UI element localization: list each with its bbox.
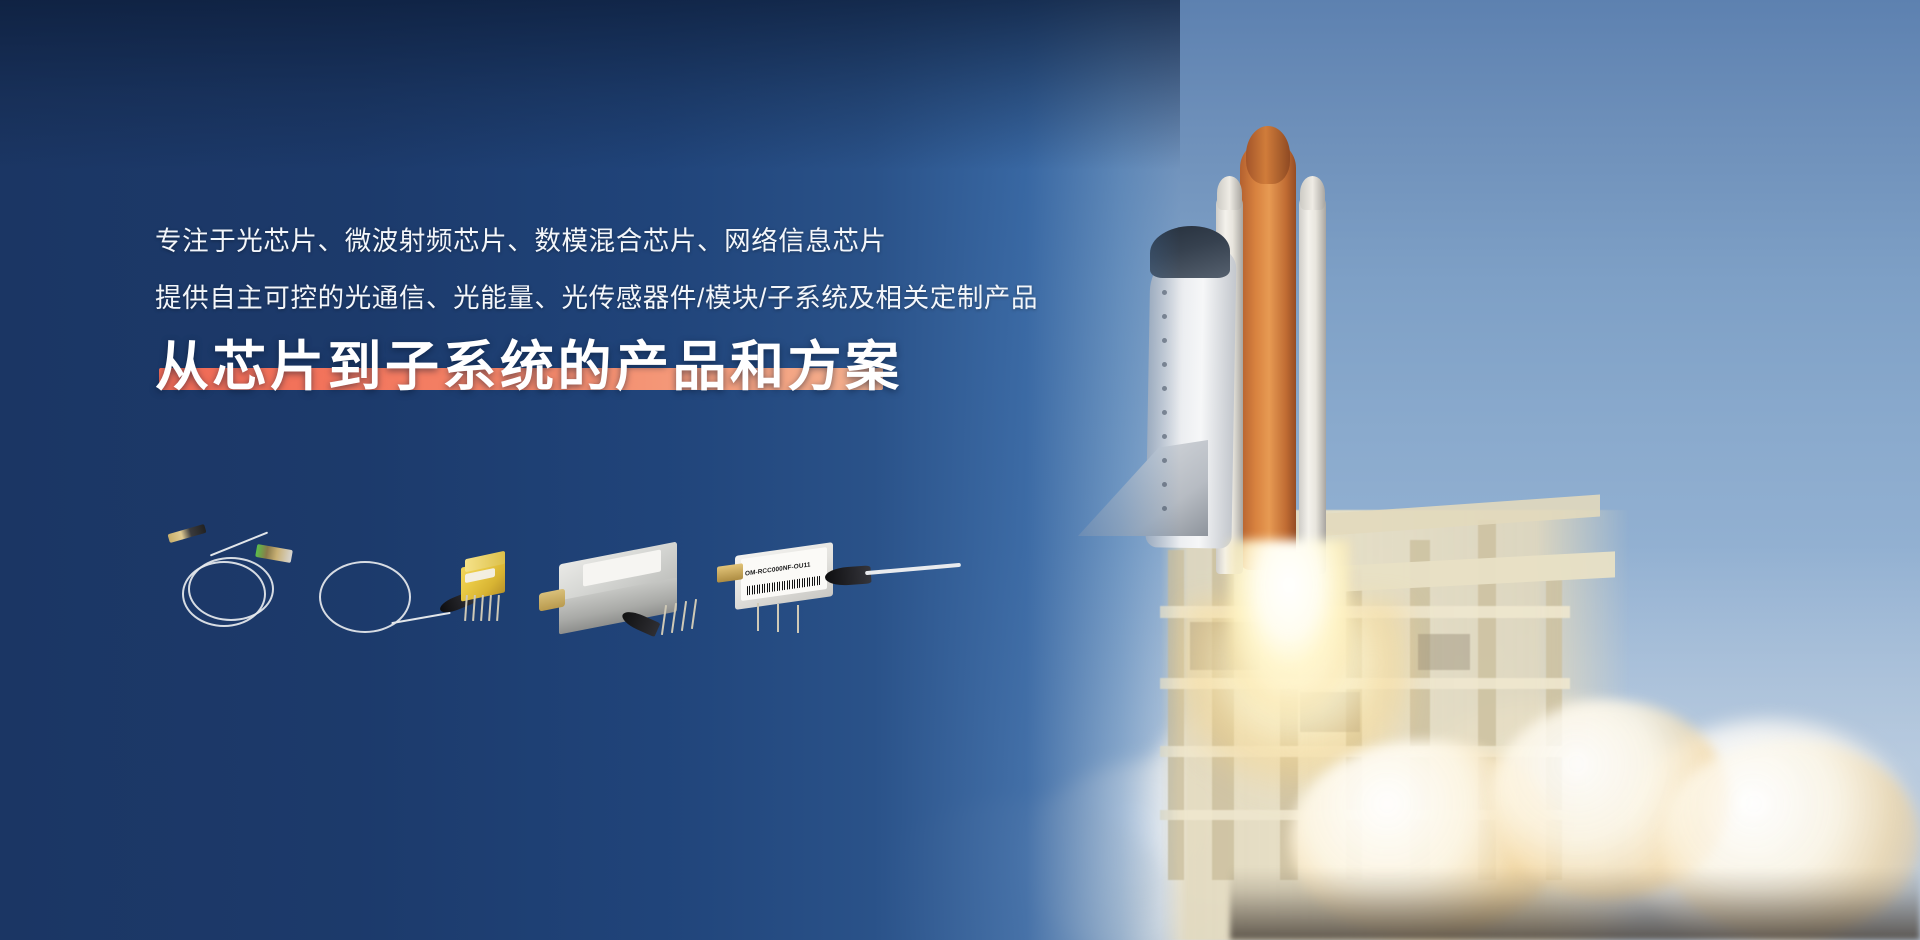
banner-headline: 从芯片到子系统的产品和方案 [155,339,903,396]
product-metal-housing-module [535,543,715,663]
srb-nose-right [1300,176,1325,210]
banner-copy: 专注于光芯片、微波射频芯片、数模混合芯片、网络信息芯片 提供自主可控的光通信、光… [155,228,1155,396]
external-tank [1240,140,1296,570]
pad-ground-shadow [1230,868,1920,940]
product-photo-strip: OM-RCC000NF-OU11 [150,525,1010,670]
solid-rocket-booster-right [1299,192,1326,574]
navy-top-shade [0,0,1180,170]
hero-banner: 专注于光芯片、微波射频芯片、数模混合芯片、网络信息芯片 提供自主可控的光通信、光… [0,0,1920,940]
banner-subtitle-line-2: 提供自主可控的光通信、光能量、光传感器件/模块/子系统及相关定制产品 [155,285,1155,312]
fiber-connector [167,524,206,543]
banner-subtitle-line-1: 专注于光芯片、微波射频芯片、数模混合芯片、网络信息芯片 [155,228,1155,255]
banner-headline-wrap: 从芯片到子系统的产品和方案 [155,339,903,396]
product-fiber-pigtail-coil [160,525,320,635]
srb-nose-left [1217,176,1242,210]
product-butterfly-laser-module [315,545,515,655]
fiber-tail [865,563,961,575]
product-mini-optical-receiver: OM-RCC000NF-OU11 [715,537,965,657]
fiber-connector [255,544,293,563]
external-tank-nose [1246,126,1290,184]
fiber-coil [188,557,274,621]
exhaust-flame [1228,540,1350,790]
